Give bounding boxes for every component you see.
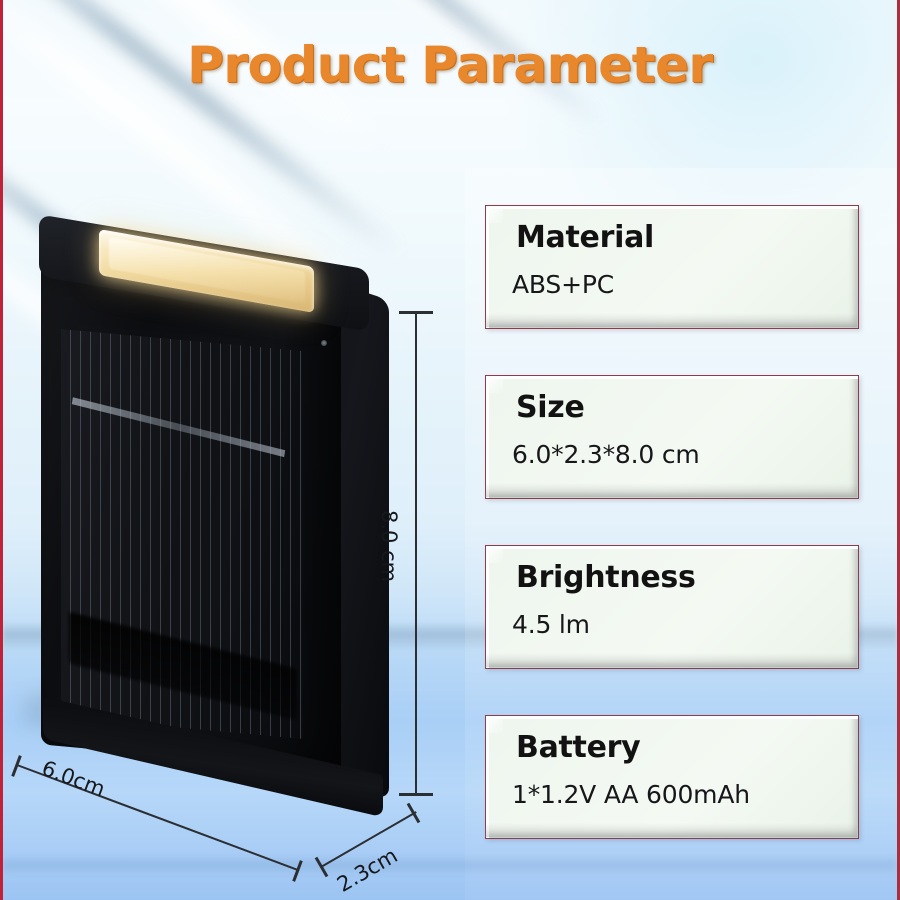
solar-panel — [61, 329, 303, 739]
height-dimension-cap-bottom — [399, 793, 433, 796]
page-title: Product Parameter — [3, 36, 897, 94]
spec-card-size: Size 6.0*2.3*8.0 cm — [485, 375, 859, 499]
spec-value: 1*1.2V AA 600mAh — [512, 780, 858, 809]
spec-card-list: Material ABS+PC Size 6.0*2.3*8.0 cm Brig… — [485, 205, 859, 885]
spec-card-brightness: Brightness 4.5 lm — [485, 545, 859, 669]
spec-value: 4.5 lm — [512, 610, 858, 639]
spec-card-battery: Battery 1*1.2V AA 600mAh — [485, 715, 859, 839]
spec-label: Brightness — [516, 562, 858, 594]
height-dimension-line — [415, 312, 417, 796]
spec-value: 6.0*2.3*8.0 cm — [512, 440, 858, 469]
height-dimension-cap-top — [399, 311, 433, 314]
height-dimension-label: 8.0 cm — [377, 510, 401, 582]
spec-label: Material — [516, 222, 858, 254]
spec-label: Size — [516, 392, 858, 424]
infographic-canvas: Product Parameter 8.0 cm 6.0cm 2.3cm Mat… — [0, 0, 900, 900]
light-sensor-dot — [321, 340, 327, 346]
spec-label: Battery — [516, 732, 858, 764]
spec-value: ABS+PC — [512, 270, 858, 299]
spec-card-material: Material ABS+PC — [485, 205, 859, 329]
